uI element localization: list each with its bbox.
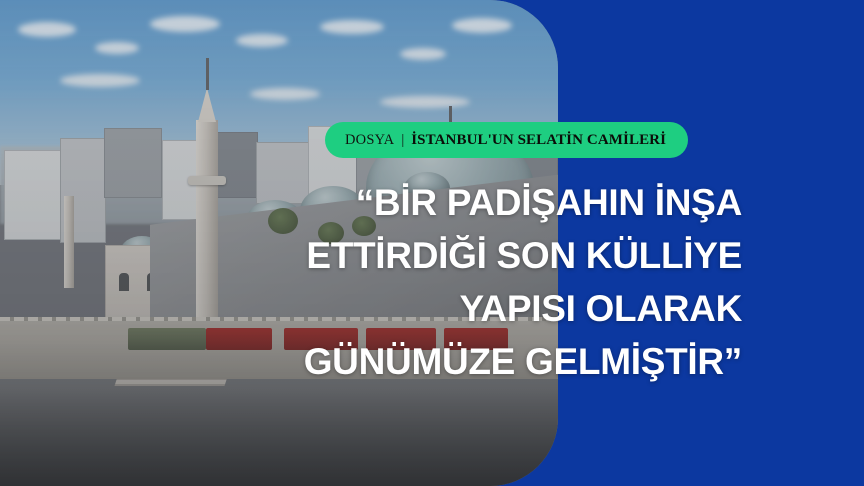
headline-line-1: “BİR PADİŞAHIN İNŞA <box>102 176 742 229</box>
headline-line-3: YAPISI OLARAK <box>102 282 742 335</box>
headline-line-4: GÜNÜMÜZE GELMİŞTİR” <box>102 335 742 388</box>
badge-kicker: DOSYA <box>345 132 394 149</box>
category-badge[interactable]: DOSYA | İSTANBUL'UN SELATİN CAMİLERİ <box>325 122 688 158</box>
cover-card: DOSYA | İSTANBUL'UN SELATİN CAMİLERİ “Bİ… <box>0 0 864 486</box>
headline-line-2: ETTİRDİĞİ SON KÜLLİYE <box>102 229 742 282</box>
badge-separator: | <box>401 132 404 149</box>
headline: “BİR PADİŞAHIN İNŞA ETTİRDİĞİ SON KÜLLİY… <box>102 176 742 388</box>
badge-title: İSTANBUL'UN SELATİN CAMİLERİ <box>411 132 666 149</box>
